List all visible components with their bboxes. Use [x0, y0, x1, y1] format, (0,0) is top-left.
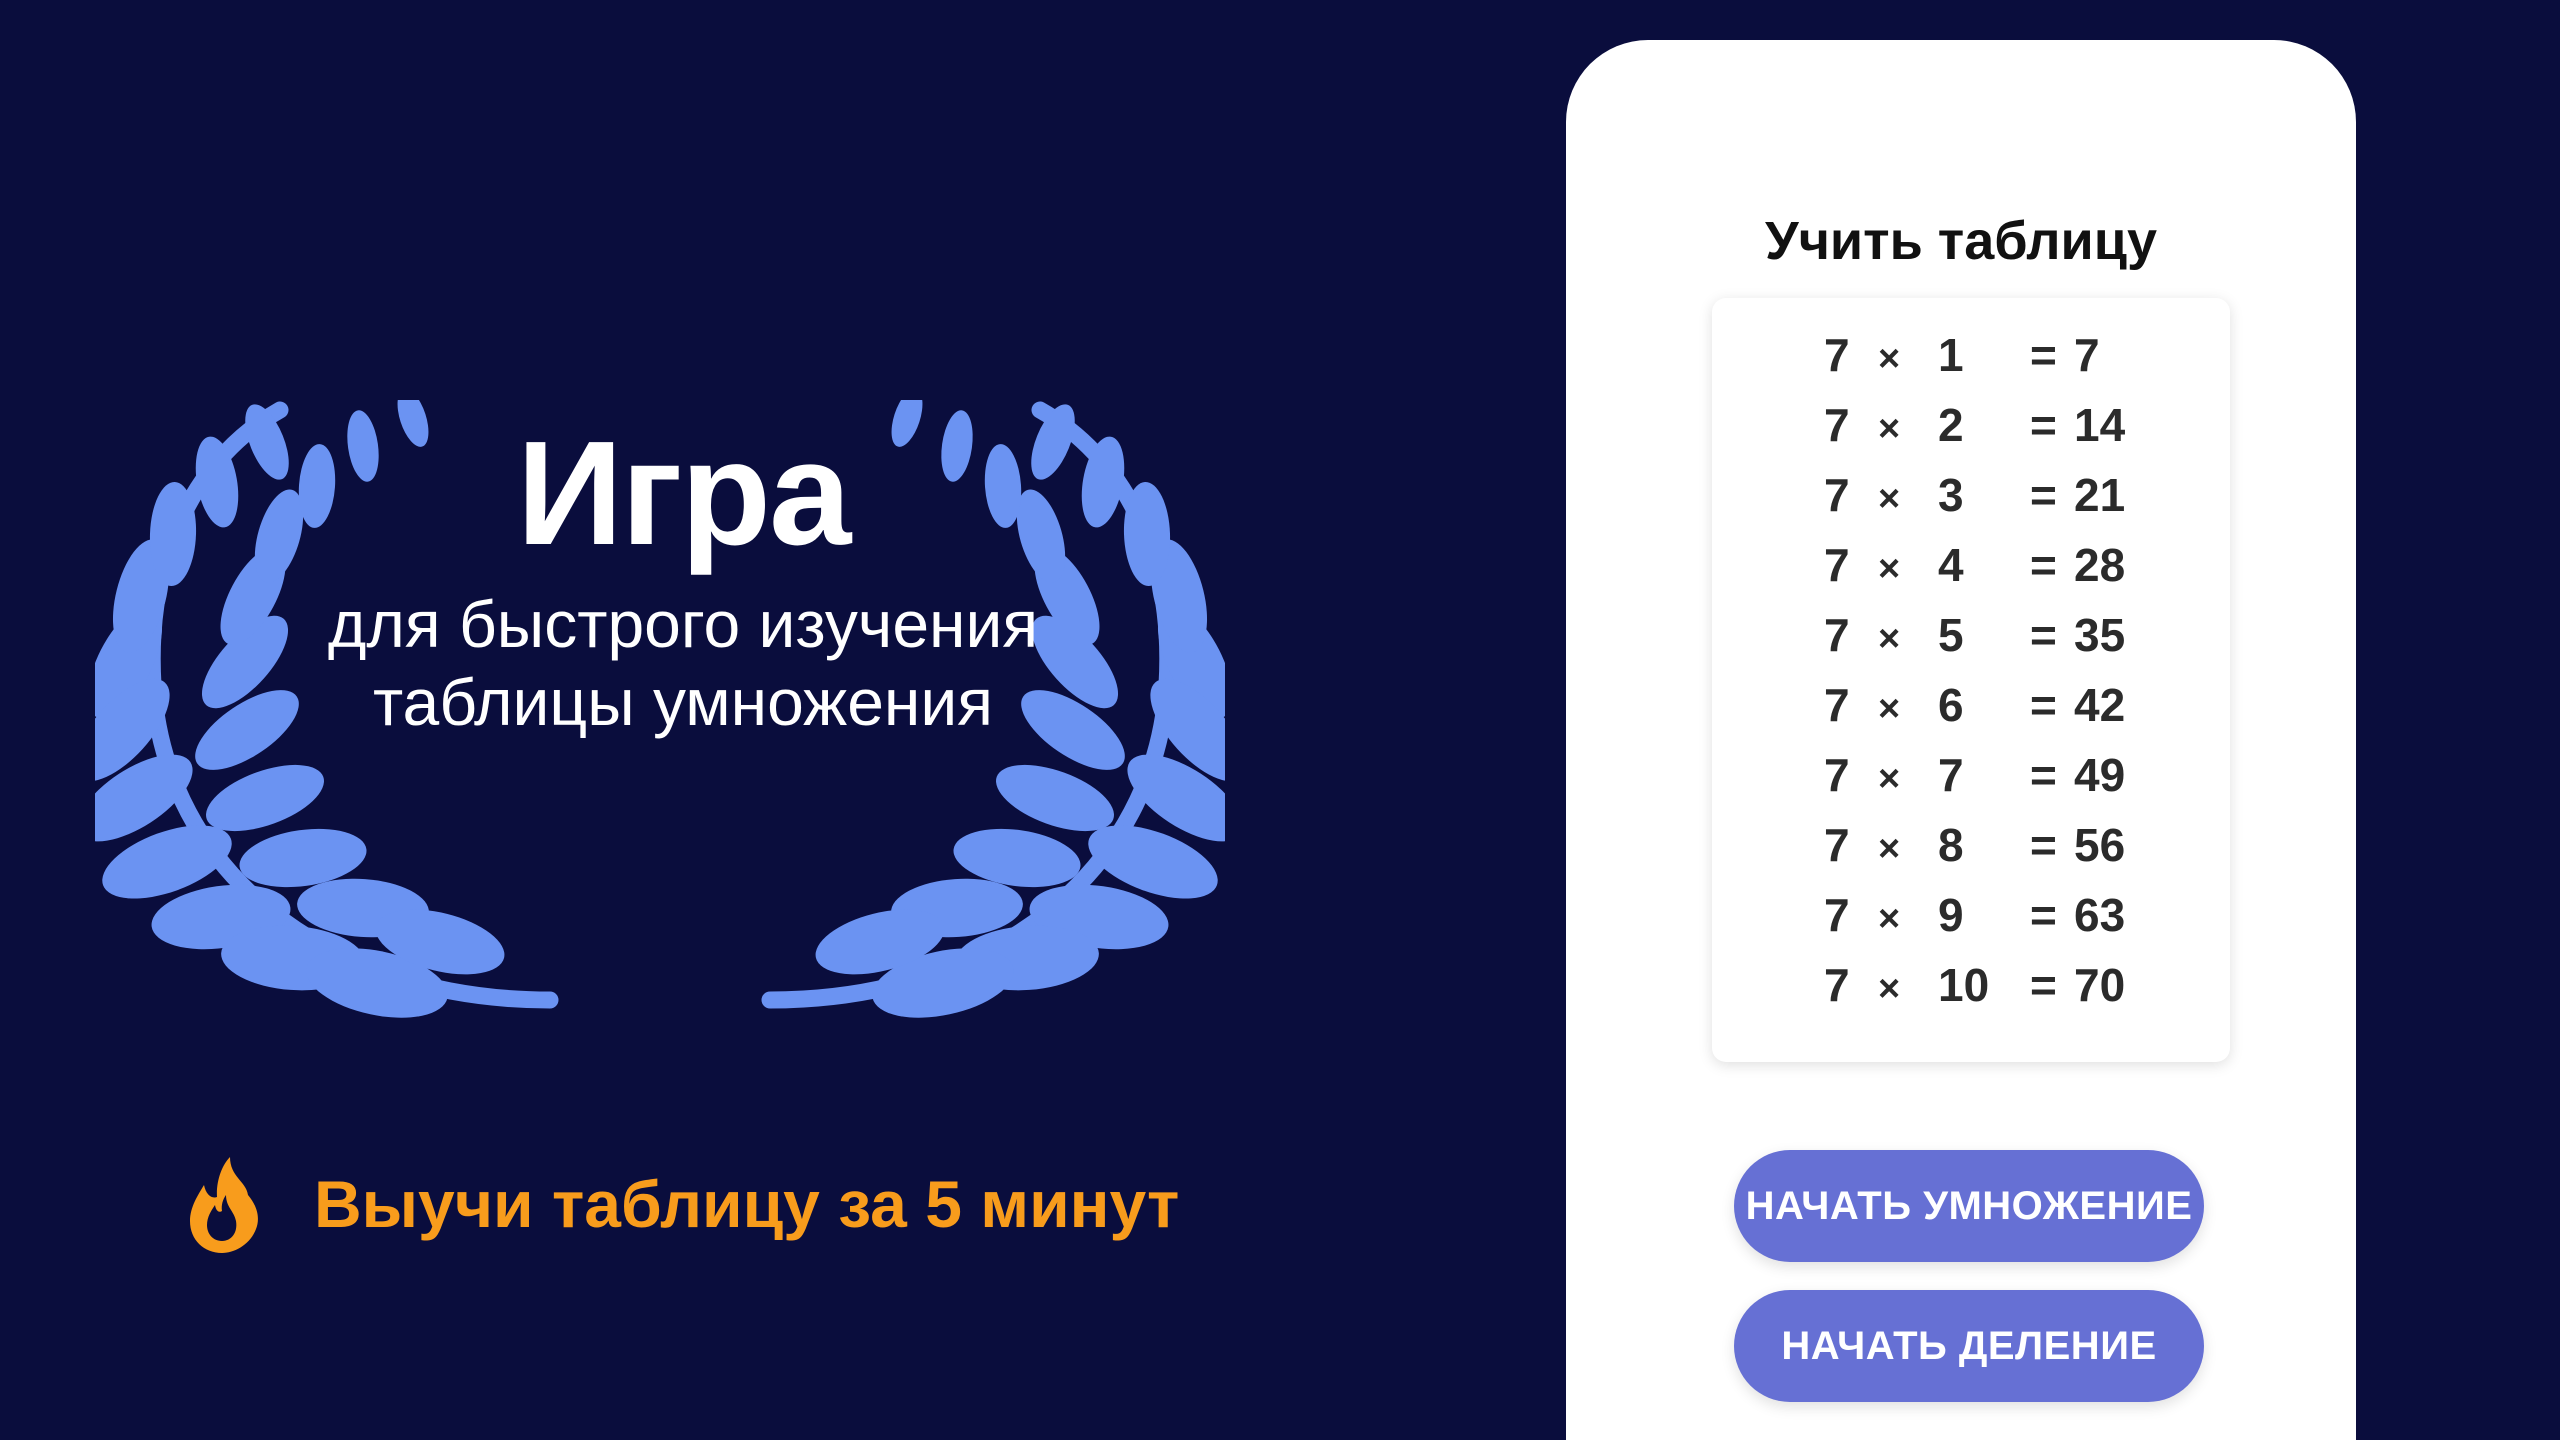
row-multiplicand: 7	[1824, 328, 1878, 382]
page-subtitle: для быстрого изучения таблицы умножения	[0, 586, 1366, 742]
flame-icon	[190, 1155, 260, 1253]
row-equals: =	[2030, 538, 2074, 592]
row-result: 14	[2074, 398, 2125, 452]
subtitle-line-1: для быстрого изучения	[0, 586, 1366, 664]
tagline-text: Выучи таблицу за 5 минут	[314, 1166, 1179, 1242]
row-multiplier: 6	[1938, 678, 2030, 732]
start-division-button[interactable]: НАЧАТЬ ДЕЛЕНИЕ	[1734, 1290, 2204, 1402]
row-multiplicand: 7	[1824, 888, 1878, 942]
row-result: 63	[2074, 888, 2125, 942]
table-row: 7 × 3 = 21	[1712, 468, 2230, 538]
row-multiplier: 4	[1938, 538, 2030, 592]
start-multiplication-button[interactable]: НАЧАТЬ УМНОЖЕНИЕ	[1734, 1150, 2204, 1262]
row-result: 70	[2074, 958, 2125, 1012]
row-result: 35	[2074, 608, 2125, 662]
row-operator: ×	[1878, 828, 1938, 871]
row-equals: =	[2030, 468, 2074, 522]
row-multiplicand: 7	[1824, 538, 1878, 592]
row-equals: =	[2030, 398, 2074, 452]
row-multiplier: 5	[1938, 608, 2030, 662]
row-operator: ×	[1878, 968, 1938, 1011]
row-operator: ×	[1878, 338, 1938, 381]
table-row: 7 × 1 = 7	[1712, 328, 2230, 398]
row-result: 28	[2074, 538, 2125, 592]
app-screenshot: Игра для быстрого изучения таблицы умнож…	[0, 0, 2560, 1440]
row-result: 56	[2074, 818, 2125, 872]
row-operator: ×	[1878, 898, 1938, 941]
row-multiplicand: 7	[1824, 748, 1878, 802]
row-equals: =	[2030, 328, 2074, 382]
page-title: Игра	[0, 420, 1366, 568]
row-multiplier: 1	[1938, 328, 2030, 382]
row-equals: =	[2030, 818, 2074, 872]
row-multiplier: 9	[1938, 888, 2030, 942]
phone-screen-title: Учить таблицу	[1566, 210, 2356, 272]
tagline-row: Выучи таблицу за 5 минут	[190, 1155, 1179, 1253]
row-operator: ×	[1878, 548, 1938, 591]
row-operator: ×	[1878, 758, 1938, 801]
table-row: 7 × 5 = 35	[1712, 608, 2230, 678]
table-row: 7 × 10 = 70	[1712, 958, 2230, 1028]
row-operator: ×	[1878, 618, 1938, 661]
phone-preview-panel: Учить таблицу 7 × 1 = 7 7 × 2 = 14 7 × 3…	[1566, 40, 2356, 1440]
row-result: 21	[2074, 468, 2125, 522]
row-multiplicand: 7	[1824, 678, 1878, 732]
row-result: 7	[2074, 328, 2100, 382]
row-equals: =	[2030, 888, 2074, 942]
multiplication-table-card: 7 × 1 = 7 7 × 2 = 14 7 × 3 = 21 7	[1712, 298, 2230, 1062]
row-equals: =	[2030, 958, 2074, 1012]
row-multiplicand: 7	[1824, 398, 1878, 452]
row-equals: =	[2030, 608, 2074, 662]
row-equals: =	[2030, 748, 2074, 802]
subtitle-line-2: таблицы умножения	[0, 664, 1366, 742]
row-multiplier: 10	[1938, 958, 2030, 1012]
row-multiplier: 8	[1938, 818, 2030, 872]
table-row: 7 × 6 = 42	[1712, 678, 2230, 748]
row-operator: ×	[1878, 408, 1938, 451]
row-multiplicand: 7	[1824, 468, 1878, 522]
row-multiplier: 7	[1938, 748, 2030, 802]
row-operator: ×	[1878, 688, 1938, 731]
row-multiplier: 3	[1938, 468, 2030, 522]
row-multiplier: 2	[1938, 398, 2030, 452]
table-row: 7 × 8 = 56	[1712, 818, 2230, 888]
table-row: 7 × 4 = 28	[1712, 538, 2230, 608]
row-equals: =	[2030, 678, 2074, 732]
row-operator: ×	[1878, 478, 1938, 521]
row-result: 42	[2074, 678, 2125, 732]
table-row: 7 × 2 = 14	[1712, 398, 2230, 468]
table-row: 7 × 9 = 63	[1712, 888, 2230, 958]
table-row: 7 × 7 = 49	[1712, 748, 2230, 818]
hero-block: Игра для быстрого изучения таблицы умнож…	[0, 420, 1366, 742]
row-multiplicand: 7	[1824, 608, 1878, 662]
row-multiplicand: 7	[1824, 818, 1878, 872]
row-multiplicand: 7	[1824, 958, 1878, 1012]
row-result: 49	[2074, 748, 2125, 802]
promo-panel: Игра для быстрого изучения таблицы умнож…	[0, 0, 1566, 1440]
